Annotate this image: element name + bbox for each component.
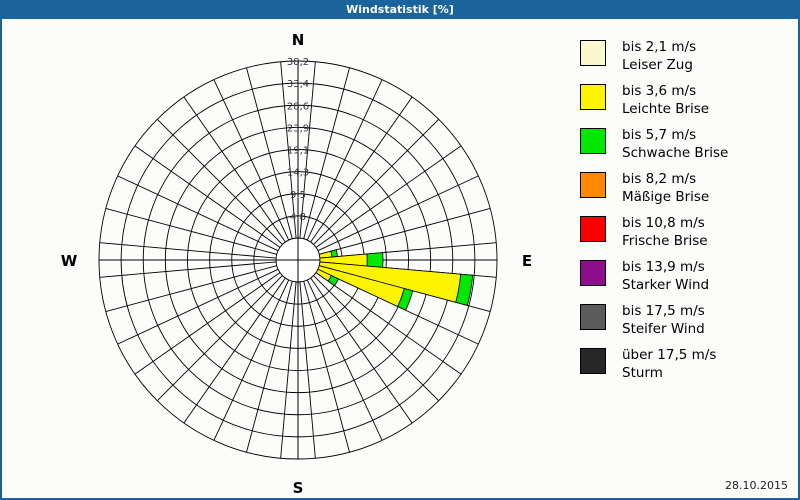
legend-item[interactable]: bis 2,1 m/s Leiser Zug bbox=[580, 39, 795, 74]
polar-grid bbox=[99, 61, 497, 459]
legend-speed-label: bis 13,9 m/s bbox=[622, 259, 709, 277]
windrose-plot: 4,89,514,319,123,928,633,438,2NESW bbox=[2, 19, 562, 498]
window-titlebar: Windstatistik [%] bbox=[0, 0, 800, 19]
grid-spoke bbox=[318, 176, 478, 251]
chart-client-area: 4,89,514,319,123,928,633,438,2NESW bis 2… bbox=[2, 19, 798, 498]
grid-spoke bbox=[118, 176, 278, 251]
legend-swatch bbox=[580, 348, 606, 374]
grid-spoke bbox=[246, 281, 292, 452]
date-stamp: 28.10.2015 bbox=[725, 479, 788, 492]
radial-tick-label: 23,9 bbox=[287, 123, 309, 134]
legend-speed-label: bis 2,1 m/s bbox=[622, 39, 696, 57]
grid-spoke bbox=[304, 68, 350, 239]
legend-swatch bbox=[580, 260, 606, 286]
legend-label: bis 10,8 m/s Frische Brise bbox=[622, 215, 708, 250]
legend-item[interactable]: bis 13,9 m/s Starker Wind bbox=[580, 259, 795, 294]
grid-spoke bbox=[106, 208, 277, 254]
legend-item[interactable]: über 17,5 m/s Sturm bbox=[580, 347, 795, 382]
legend-item[interactable]: bis 3,6 m/s Leichte Brise bbox=[580, 83, 795, 118]
legend-name-label: Mäßige Brise bbox=[622, 189, 709, 207]
radial-tick-label: 9,5 bbox=[290, 190, 306, 201]
legend-speed-label: bis 5,7 m/s bbox=[622, 127, 728, 145]
compass-label-east: E bbox=[522, 252, 532, 270]
legend-label: bis 8,2 m/s Mäßige Brise bbox=[622, 171, 709, 206]
legend-label: bis 13,9 m/s Starker Wind bbox=[622, 259, 709, 294]
grid-spoke bbox=[246, 68, 292, 239]
legend-item[interactable]: bis 8,2 m/s Mäßige Brise bbox=[580, 171, 795, 206]
legend-name-label: Leiser Zug bbox=[622, 57, 696, 75]
legend-name-label: Sturm bbox=[622, 365, 716, 383]
legend-name-label: Leichte Brise bbox=[622, 101, 709, 119]
wind-petal-segment bbox=[331, 250, 338, 257]
wind-petal-segment bbox=[367, 253, 383, 268]
window-title: Windstatistik [%] bbox=[346, 3, 454, 16]
legend-label: bis 3,6 m/s Leichte Brise bbox=[622, 83, 709, 118]
legend-name-label: Schwache Brise bbox=[622, 145, 728, 163]
grid-spoke bbox=[307, 280, 382, 440]
legend-swatch bbox=[580, 128, 606, 154]
legend-item[interactable]: bis 17,5 m/s Steifer Wind bbox=[580, 303, 795, 338]
legend-swatch bbox=[580, 216, 606, 242]
grid-spoke bbox=[307, 80, 382, 240]
legend-speed-label: bis 17,5 m/s bbox=[622, 303, 705, 321]
radial-tick-label: 28,6 bbox=[287, 101, 309, 112]
radial-tick-label: 38,2 bbox=[287, 57, 309, 68]
grid-spoke bbox=[319, 208, 490, 254]
legend-item[interactable]: bis 5,7 m/s Schwache Brise bbox=[580, 127, 795, 162]
grid-spoke bbox=[157, 276, 282, 401]
legend-name-label: Frische Brise bbox=[622, 233, 708, 251]
radial-tick-label: 14,3 bbox=[287, 168, 309, 179]
grid-spoke bbox=[106, 266, 277, 312]
grid-spoke bbox=[214, 80, 289, 240]
legend: bis 2,1 m/s Leiser Zug bis 3,6 m/s Leich… bbox=[580, 39, 795, 391]
legend-name-label: Starker Wind bbox=[622, 277, 709, 295]
legend-swatch bbox=[580, 40, 606, 66]
legend-speed-label: über 17,5 m/s bbox=[622, 347, 716, 365]
radial-tick-label: 4,8 bbox=[290, 212, 306, 223]
compass-label-north: N bbox=[292, 31, 305, 49]
grid-spoke bbox=[304, 281, 350, 452]
windrose-svg: 4,89,514,319,123,928,633,438,2NESW bbox=[2, 19, 562, 498]
legend-swatch bbox=[580, 84, 606, 110]
grid-spoke bbox=[214, 280, 289, 440]
legend-item[interactable]: bis 10,8 m/s Frische Brise bbox=[580, 215, 795, 250]
grid-spoke bbox=[314, 119, 439, 244]
legend-label: bis 17,5 m/s Steifer Wind bbox=[622, 303, 705, 338]
legend-swatch bbox=[580, 172, 606, 198]
compass-label-west: W bbox=[61, 252, 78, 270]
legend-label: bis 5,7 m/s Schwache Brise bbox=[622, 127, 728, 162]
radial-tick-label: 33,4 bbox=[287, 79, 309, 90]
legend-speed-label: bis 10,8 m/s bbox=[622, 215, 708, 233]
legend-label: bis 2,1 m/s Leiser Zug bbox=[622, 39, 696, 74]
legend-speed-label: bis 8,2 m/s bbox=[622, 171, 709, 189]
compass-label-south: S bbox=[293, 479, 304, 497]
grid-spoke bbox=[157, 119, 282, 244]
chart-window: Windstatistik [%] 4,89,514,319,123,928,6… bbox=[0, 0, 800, 500]
legend-speed-label: bis 3,6 m/s bbox=[622, 83, 709, 101]
legend-label: über 17,5 m/s Sturm bbox=[622, 347, 716, 382]
legend-name-label: Steifer Wind bbox=[622, 321, 705, 339]
legend-swatch bbox=[580, 304, 606, 330]
radial-tick-label: 19,1 bbox=[287, 146, 309, 157]
grid-spoke bbox=[118, 269, 278, 344]
